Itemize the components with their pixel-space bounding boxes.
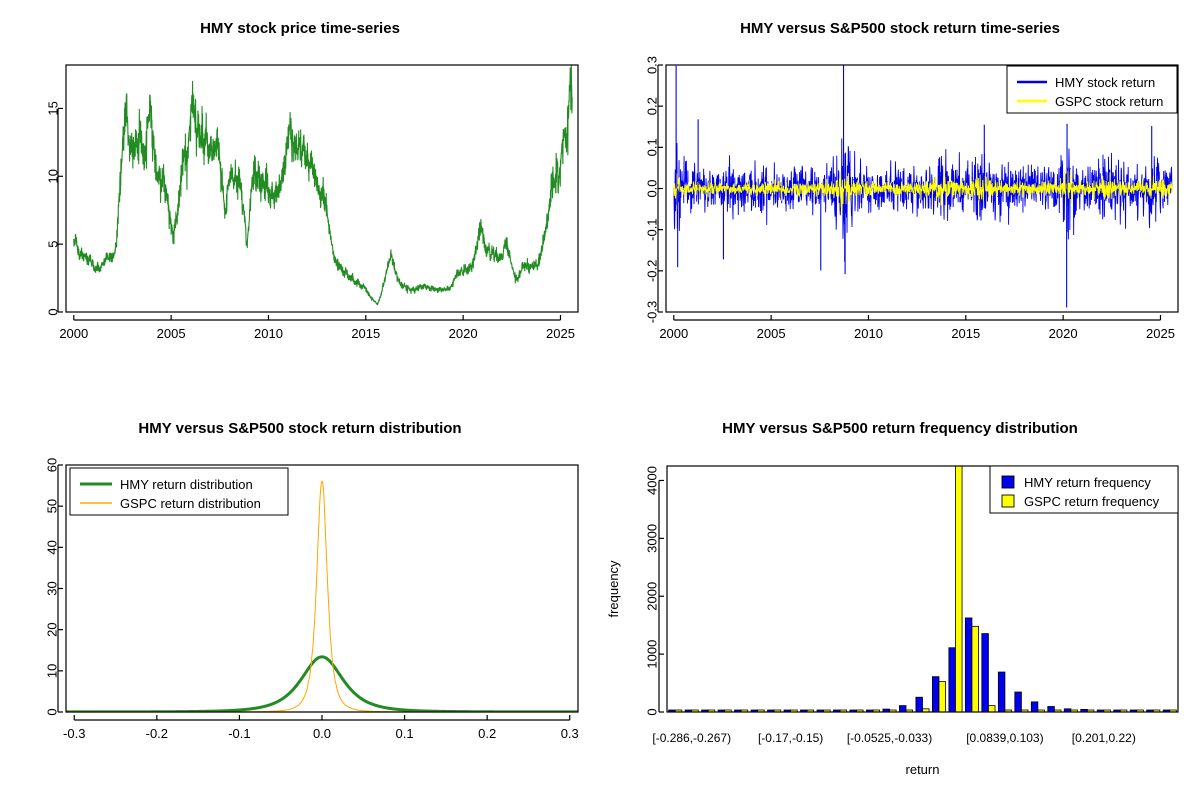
- svg-text:50: 50: [45, 499, 60, 513]
- legend-label: GSPC return distribution: [120, 496, 261, 511]
- svg-text:-0.3: -0.3: [63, 726, 85, 741]
- svg-text:-0.3: -0.3: [645, 301, 660, 323]
- legend-return-frequency: HMY return frequencyGSPC return frequenc…: [990, 466, 1178, 513]
- y-axis-title: frequency: [606, 560, 621, 618]
- svg-text:2020: 2020: [1049, 326, 1078, 341]
- svg-text:2025: 2025: [546, 326, 575, 341]
- svg-text:5: 5: [46, 241, 61, 248]
- hist-bar-hmy: [932, 677, 939, 712]
- svg-text:20: 20: [45, 622, 60, 636]
- hist-bin-label: [-0.286,-0.267): [652, 731, 731, 745]
- svg-text:30: 30: [45, 581, 60, 595]
- svg-text:40: 40: [45, 540, 60, 554]
- svg-text:0.0: 0.0: [313, 726, 331, 741]
- svg-text:0.2: 0.2: [645, 97, 660, 115]
- hist-bar-gspc: [939, 682, 946, 712]
- svg-text:0: 0: [645, 708, 660, 715]
- svg-text:10: 10: [46, 169, 61, 183]
- return-timeseries-plot-svg: -0.3-0.2-0.10.00.10.20.32000200520102015…: [600, 0, 1200, 400]
- svg-text:0.1: 0.1: [645, 138, 660, 156]
- panel-return-timeseries: HMY versus S&P500 stock return time-seri…: [600, 0, 1200, 400]
- hist-bar-hmy: [1015, 692, 1022, 712]
- svg-text:0: 0: [46, 308, 61, 315]
- svg-text:2010: 2010: [254, 326, 283, 341]
- svg-text:2000: 2000: [59, 326, 88, 341]
- svg-text:60: 60: [45, 458, 60, 472]
- svg-text:0.0: 0.0: [645, 179, 660, 197]
- svg-text:3000: 3000: [645, 524, 660, 553]
- hist-bar-hmy: [1031, 702, 1038, 712]
- svg-text:0.3: 0.3: [561, 726, 579, 741]
- hist-bin-label: [-0.0525,-0.033): [847, 731, 932, 745]
- svg-text:2015: 2015: [951, 326, 980, 341]
- hist-bar-hmy: [998, 672, 1005, 712]
- x-axis-title: return: [906, 762, 940, 777]
- svg-text:0.3: 0.3: [645, 56, 660, 74]
- panel-price-timeseries: HMY stock price time-series 051015200020…: [0, 0, 600, 400]
- hist-bin-label: [0.0839,0.103): [966, 731, 1043, 745]
- svg-text:2005: 2005: [757, 326, 786, 341]
- hist-bar-hmy: [916, 697, 923, 712]
- svg-text:10: 10: [45, 664, 60, 678]
- legend-label: GSPC stock return: [1055, 94, 1163, 109]
- svg-text:-0.2: -0.2: [645, 260, 660, 282]
- svg-text:-0.1: -0.1: [645, 218, 660, 240]
- legend-label: GSPC return frequency: [1024, 494, 1160, 509]
- svg-text:15: 15: [46, 101, 61, 115]
- hist-bar-gspc: [988, 706, 995, 712]
- figure-panel-grid: HMY stock price time-series 051015200020…: [0, 0, 1200, 800]
- hist-bar-hmy: [982, 634, 989, 712]
- legend-label: HMY return distribution: [120, 477, 253, 492]
- hist-bin-label: [-0.17,-0.15): [758, 731, 823, 745]
- panel-return-distribution: HMY versus S&P500 stock return distribut…: [0, 400, 600, 800]
- svg-text:2025: 2025: [1146, 326, 1175, 341]
- hist-bar-gspc: [955, 466, 962, 712]
- hist-bar-hmy: [1048, 707, 1055, 713]
- price-plot-svg: 051015200020052010201520202025: [0, 0, 600, 400]
- histogram-plot-svg: 01000200030004000[-0.286,-0.267)[-0.17,-…: [600, 400, 1200, 800]
- svg-text:0: 0: [45, 708, 60, 715]
- legend-return-timeseries: HMY stock returnGSPC stock return: [1007, 66, 1177, 113]
- panel-return-frequency: HMY versus S&P500 return frequency distr…: [600, 400, 1200, 800]
- hist-bar-hmy: [965, 618, 972, 712]
- legend-return-distribution: HMY return distributionGSPC return distr…: [70, 468, 288, 515]
- legend-label: HMY stock return: [1055, 75, 1155, 90]
- hist-bar-hmy: [899, 706, 906, 712]
- svg-text:4000: 4000: [645, 466, 660, 495]
- hist-bar-hmy: [949, 648, 956, 712]
- svg-text:0.1: 0.1: [396, 726, 414, 741]
- svg-text:2015: 2015: [351, 326, 380, 341]
- svg-text:1000: 1000: [645, 640, 660, 669]
- svg-text:-0.2: -0.2: [146, 726, 168, 741]
- legend-label: HMY return frequency: [1024, 475, 1151, 490]
- svg-text:2010: 2010: [854, 326, 883, 341]
- svg-text:2005: 2005: [157, 326, 186, 341]
- svg-text:2020: 2020: [449, 326, 478, 341]
- hist-bar-gspc: [972, 626, 979, 712]
- density-plot-svg: 0102030405060-0.3-0.2-0.10.00.10.20.3HMY…: [0, 400, 600, 800]
- hist-bin-label: [0.201,0.22): [1072, 731, 1136, 745]
- svg-text:0.2: 0.2: [478, 726, 496, 741]
- svg-text:2000: 2000: [659, 326, 688, 341]
- svg-text:-0.1: -0.1: [228, 726, 250, 741]
- svg-text:2000: 2000: [645, 582, 660, 611]
